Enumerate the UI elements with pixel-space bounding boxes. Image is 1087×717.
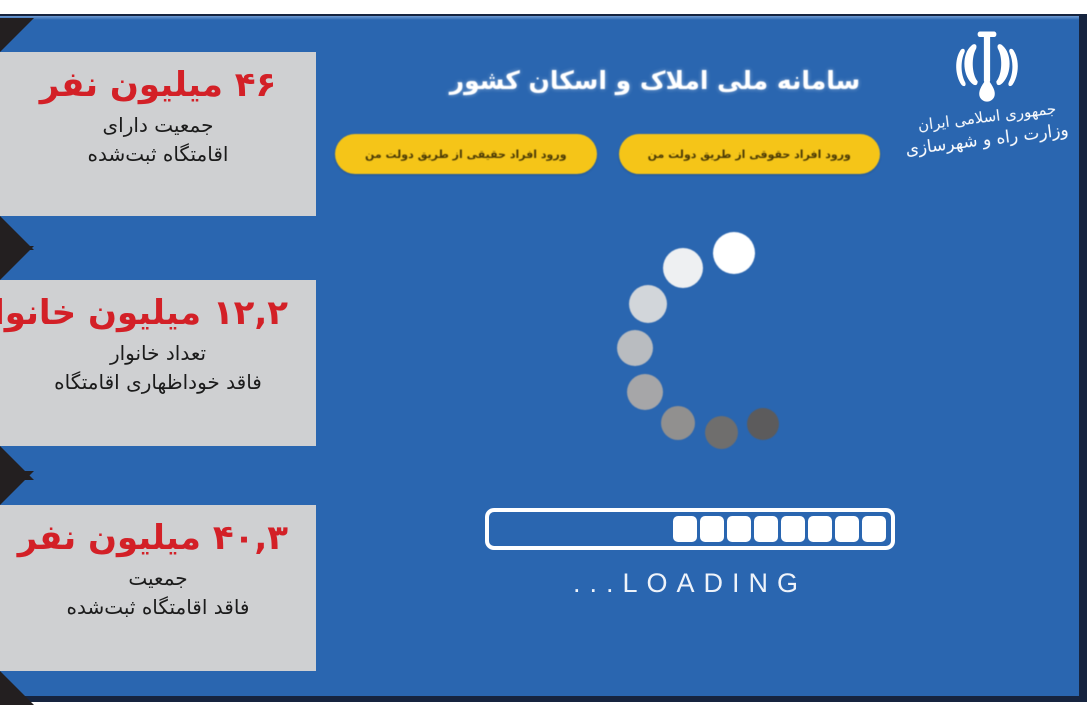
page-title: سامانه ملی املاک و اسکان کشور xyxy=(420,66,890,95)
spinner-dot xyxy=(663,248,703,288)
progress-segment-empty xyxy=(538,516,562,542)
stat-value: ۴۶ میلیون نفر xyxy=(28,66,288,105)
progress-segment-filled xyxy=(727,516,751,542)
login-legal-entity-button[interactable]: ورود افراد حقوقی از طریق دولت من xyxy=(619,134,881,174)
progress-segment-filled xyxy=(808,516,832,542)
spinner-dot xyxy=(617,330,653,366)
spinner-dot xyxy=(661,406,695,440)
stat-value: ۱۲,۲ میلیون خانوار xyxy=(28,294,288,333)
login-button-group: ورود افراد حقوقی از طریق دولت من ورود اف… xyxy=(335,134,880,174)
page-header: جمهوری اسلامی ایران وزارت راه و شهرسازی … xyxy=(320,24,1080,204)
spinner-dot xyxy=(629,285,667,323)
stat-label: جمعیت فاقد اقامتگاه ثبت‌شده xyxy=(28,564,288,622)
loading-status-text: LOADING... xyxy=(485,568,895,599)
stat-card-unregistered-population: ۴۰,۳ میلیون نفر جمعیت فاقد اقامتگاه ثبت‌… xyxy=(0,505,316,671)
stat-card-registered-population: ۴۶ میلیون نفر جمعیت دارای اقامتگاه ثبت‌ش… xyxy=(0,52,316,216)
loading-area: LOADING... xyxy=(340,230,1040,650)
circular-dot-spinner-icon xyxy=(595,230,785,445)
stat-label-line-2: فاقد خوداظهاری اقامتگاه xyxy=(28,368,288,397)
stat-value: ۴۰,۳ میلیون نفر xyxy=(28,519,288,558)
stat-label-line-2: اقامتگاه ثبت‌شده xyxy=(28,140,288,169)
ribbon-notch-bottom-1 xyxy=(0,216,34,250)
ribbon-notch-top-2 xyxy=(0,246,34,280)
progress-segment-filled xyxy=(781,516,805,542)
spinner-dot xyxy=(627,374,663,410)
spinner-dot xyxy=(705,416,738,449)
progress-segment-filled xyxy=(700,516,724,542)
app-screen: جمهوری اسلامی ایران وزارت راه و شهرسازی … xyxy=(0,0,1087,717)
progress-segment-empty xyxy=(592,516,616,542)
ministry-brand-block: جمهوری اسلامی ایران وزارت راه و شهرسازی xyxy=(902,30,1072,150)
progress-segment-empty xyxy=(511,516,535,542)
stat-label-line-1: تعداد خانوار xyxy=(110,341,206,365)
progress-segment-empty xyxy=(646,516,670,542)
ribbon-notch-top-1 xyxy=(0,18,34,52)
progress-segment-filled xyxy=(862,516,886,542)
login-natural-person-button[interactable]: ورود افراد حقیقی از طریق دولت من xyxy=(335,134,597,174)
spinner-dot xyxy=(713,232,755,274)
stat-card-households-without-declaration: ۱۲,۲ میلیون خانوار تعداد خانوار فاقد خود… xyxy=(0,280,316,446)
progress-segment-empty xyxy=(619,516,643,542)
ribbon-notch-bottom-3 xyxy=(0,671,34,705)
spinner-dot xyxy=(747,408,779,440)
stat-label-line-1: جمعیت xyxy=(128,566,187,590)
progress-segment-filled xyxy=(835,516,859,542)
progress-segment-empty xyxy=(565,516,589,542)
iran-national-emblem-icon xyxy=(948,30,1026,104)
stat-label-line-1: جمعیت دارای xyxy=(103,113,214,137)
stat-label: تعداد خانوار فاقد خوداظهاری اقامتگاه xyxy=(28,339,288,397)
stat-label: جمعیت دارای اقامتگاه ثبت‌شده xyxy=(28,111,288,169)
progress-segment-filled xyxy=(673,516,697,542)
progress-bar xyxy=(485,508,895,550)
stat-label-line-2: فاقد اقامتگاه ثبت‌شده xyxy=(28,593,288,622)
statistics-ribbon: ۴۶ میلیون نفر جمعیت دارای اقامتگاه ثبت‌ش… xyxy=(0,0,316,717)
progress-segment-filled xyxy=(754,516,778,542)
